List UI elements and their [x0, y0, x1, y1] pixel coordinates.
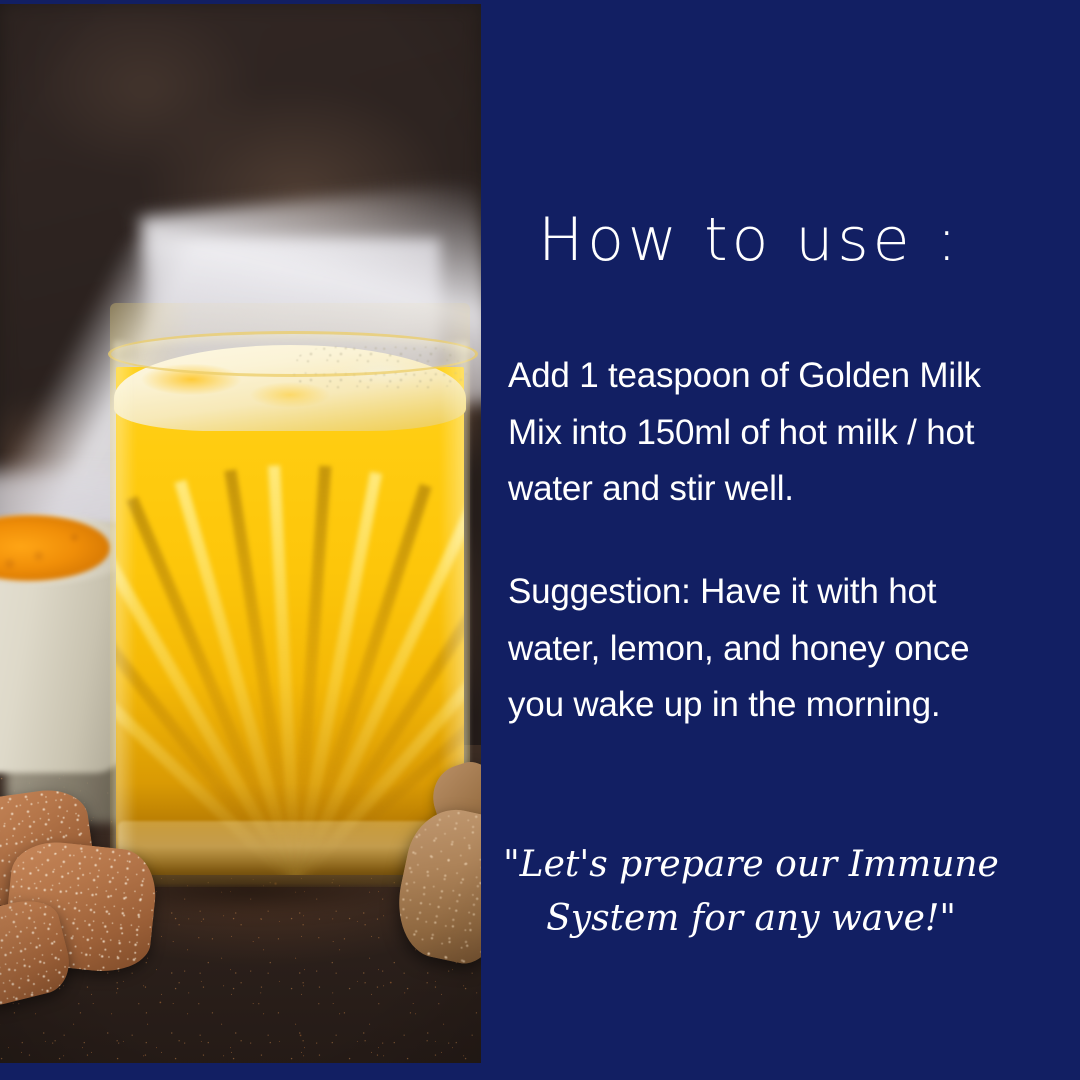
cut-glass-facets — [116, 431, 464, 875]
photo-top-band — [0, 0, 481, 4]
glass-highlight-left — [114, 341, 136, 871]
instruction-paragraph-suggestion: Suggestion: Have it with hot water, lemo… — [508, 564, 1028, 734]
instructions-panel: How to use : Add 1 teaspoon of Golden Mi… — [481, 0, 1080, 1080]
instruction-paragraph-usage: Add 1 teaspoon of Golden Milk Mix into 1… — [508, 348, 1028, 518]
glass-rim — [108, 331, 478, 377]
product-photo-panel — [0, 0, 481, 1080]
golden-milk-glass — [104, 281, 476, 891]
page-title: How to use : — [481, 210, 1080, 270]
tagline-quote: "Let's prepare our Immune System for any… — [497, 838, 1005, 946]
product-photo — [0, 3, 481, 1063]
instructions-body: Add 1 teaspoon of Golden Milk Mix into 1… — [508, 348, 1028, 734]
golden-milk-how-to-use-poster: How to use : Add 1 teaspoon of Golden Mi… — [0, 0, 1080, 1080]
photo-bottom-band — [0, 1063, 481, 1080]
